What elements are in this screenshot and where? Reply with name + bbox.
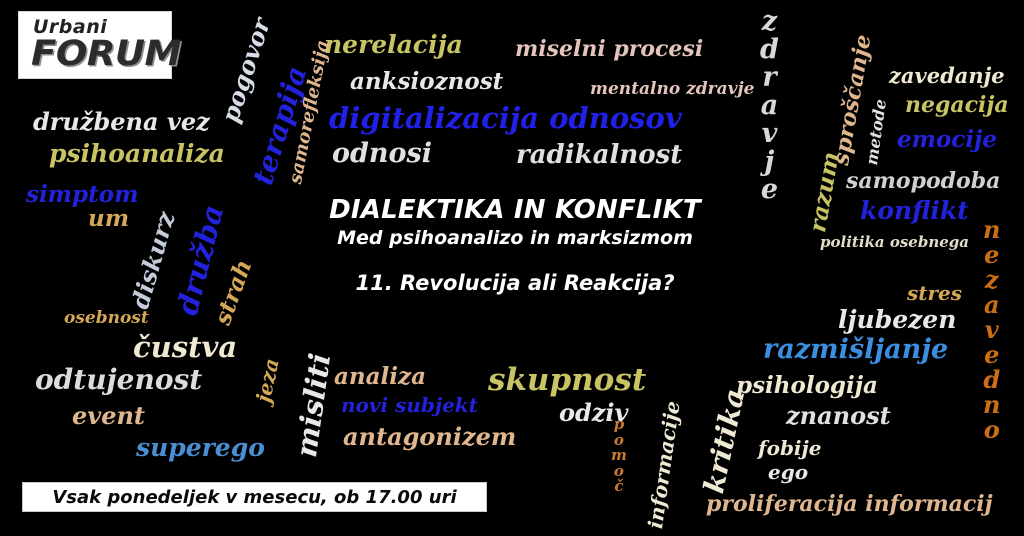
page-title: DIALEKTIKA IN KONFLIKT Med psihoanalizo … — [305, 196, 725, 296]
cloud-word: konflikt — [860, 198, 969, 223]
cloud-word: radikalnost — [516, 142, 682, 168]
cloud-word-letter: z — [762, 8, 777, 36]
cloud-word: strah — [211, 257, 256, 328]
urbani-forum-logo: Urbani FORUM — [18, 11, 172, 79]
cloud-word-letter: d — [760, 36, 779, 64]
cloud-word-letter: v — [762, 120, 778, 148]
cloud-word: razmišljanje — [763, 336, 948, 363]
cloud-word: pogovor — [218, 15, 274, 125]
cloud-word: informacije — [645, 400, 683, 530]
cloud-word: odtujenost — [35, 366, 202, 394]
cloud-word: ljubezen — [838, 307, 956, 332]
cloud-word: miselni procesi — [515, 38, 703, 60]
title-episode: 11. Revolucija ali Reakcija? — [305, 271, 725, 296]
cloud-word-letter: j — [765, 148, 775, 176]
cloud-word-stacked: nezavedno — [983, 218, 1000, 443]
cloud-word: mentalno zdravje — [590, 81, 754, 98]
cloud-word: čustva — [133, 333, 237, 362]
cloud-word: samopodoba — [846, 170, 1000, 192]
cloud-word: skupnost — [488, 365, 646, 396]
cloud-word: event — [72, 404, 145, 428]
cloud-word: metode — [864, 98, 889, 166]
cloud-word: nerelacija — [324, 32, 463, 57]
cloud-word: anksioznost — [350, 70, 503, 93]
cloud-word: osebnost — [64, 310, 149, 327]
cloud-word-letter: r — [762, 64, 776, 92]
cloud-word-letter: e — [984, 343, 999, 368]
cloud-word-letter: a — [761, 92, 779, 120]
cloud-word: jeza — [253, 357, 282, 404]
word-cloud-poster: nerelacijamiselni procesizavedanjeanksio… — [0, 0, 1024, 536]
cloud-word: psihologija — [736, 374, 878, 397]
logo-line-forum: FORUM — [31, 37, 179, 72]
cloud-word: kritika — [700, 386, 749, 495]
cloud-word-letter: n — [983, 393, 1000, 418]
cloud-word: stres — [907, 283, 962, 303]
cloud-word: novi subjekt — [341, 395, 478, 415]
cloud-word: psihoanaliza — [49, 141, 225, 166]
cloud-word-letter: d — [983, 368, 1000, 393]
cloud-word: ego — [768, 462, 808, 482]
cloud-word: fobije — [758, 438, 822, 458]
title-main: DIALEKTIKA IN KONFLIKT — [305, 196, 725, 225]
cloud-word-stacked: zdravje — [760, 8, 779, 205]
cloud-word: proliferacija informacij — [706, 493, 993, 515]
cloud-word-letter: č — [614, 479, 623, 495]
cloud-word: znanost — [786, 404, 891, 428]
cloud-word: zavedanje — [889, 65, 1005, 86]
cloud-word: negacija — [905, 94, 1009, 116]
cloud-word: emocije — [897, 128, 997, 151]
cloud-word: simptom — [26, 183, 138, 206]
cloud-word: misliti — [292, 352, 335, 460]
cloud-word: diskurz — [128, 209, 179, 312]
cloud-word: digitalizacija odnosov — [329, 104, 682, 133]
schedule-banner-text: Vsak ponedeljek v mesecu, ob 17.00 uri — [52, 487, 456, 508]
cloud-word: analiza — [334, 365, 426, 388]
cloud-word: družbena vez — [33, 110, 210, 134]
cloud-word: politika osebnega — [820, 235, 969, 250]
cloud-word: odnosi — [332, 140, 432, 167]
cloud-word-letter: e — [761, 176, 778, 204]
cloud-word: antagonizem — [343, 425, 516, 449]
schedule-banner: Vsak ponedeljek v mesecu, ob 17.00 uri — [22, 482, 487, 512]
cloud-word: superego — [136, 435, 265, 460]
cloud-word-stacked: pomoč — [611, 417, 627, 495]
cloud-word: um — [88, 207, 129, 230]
title-subtitle: Med psihoanalizo in marksizmom — [305, 226, 725, 251]
cloud-word-letter: o — [984, 418, 1000, 443]
